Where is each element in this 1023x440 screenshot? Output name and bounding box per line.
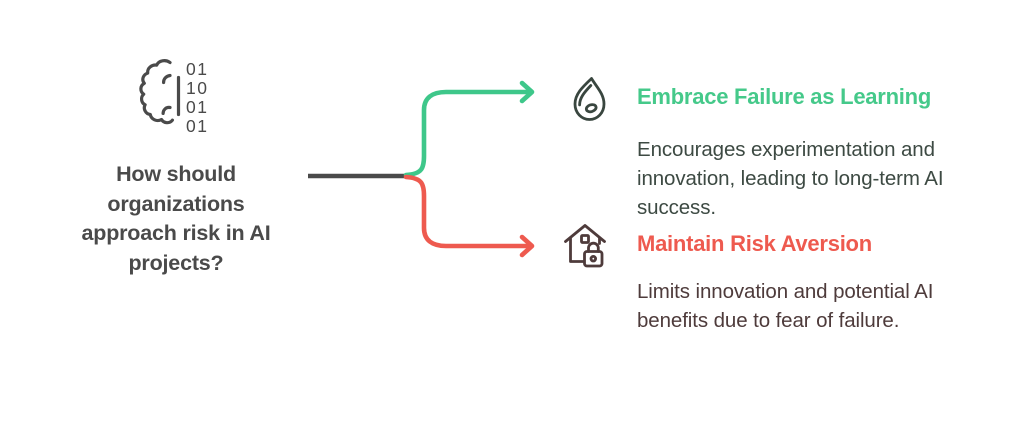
seed-droplet-icon [566, 74, 612, 124]
diagram-canvas: 01 10 01 01 How should organizations app… [0, 0, 1023, 440]
root-question-text: How should organizations approach risk i… [69, 160, 284, 279]
branch-heading-maintain-risk-aversion: Maintain Risk Aversion [637, 231, 872, 257]
branch-body-maintain-risk-aversion: Limits innovation and potential AI benef… [637, 277, 997, 335]
binary-row-4: 01 [186, 116, 208, 136]
root-node: 01 10 01 01 How should organizations app… [52, 50, 300, 279]
binary-row-3: 01 [186, 97, 208, 117]
connector-branch-red [406, 177, 530, 246]
branch-body-embrace-failure: Encourages experimentation and innovatio… [637, 135, 997, 222]
branch-heading-embrace-failure: Embrace Failure as Learning [637, 84, 931, 110]
ai-brain-binary-icon: 01 10 01 01 [130, 50, 222, 142]
branch-connector [300, 60, 570, 280]
connector-branch-green [406, 92, 530, 175]
house-lock-icon [562, 221, 608, 271]
binary-row-1: 01 [186, 59, 208, 79]
binary-row-2: 10 [186, 78, 208, 98]
